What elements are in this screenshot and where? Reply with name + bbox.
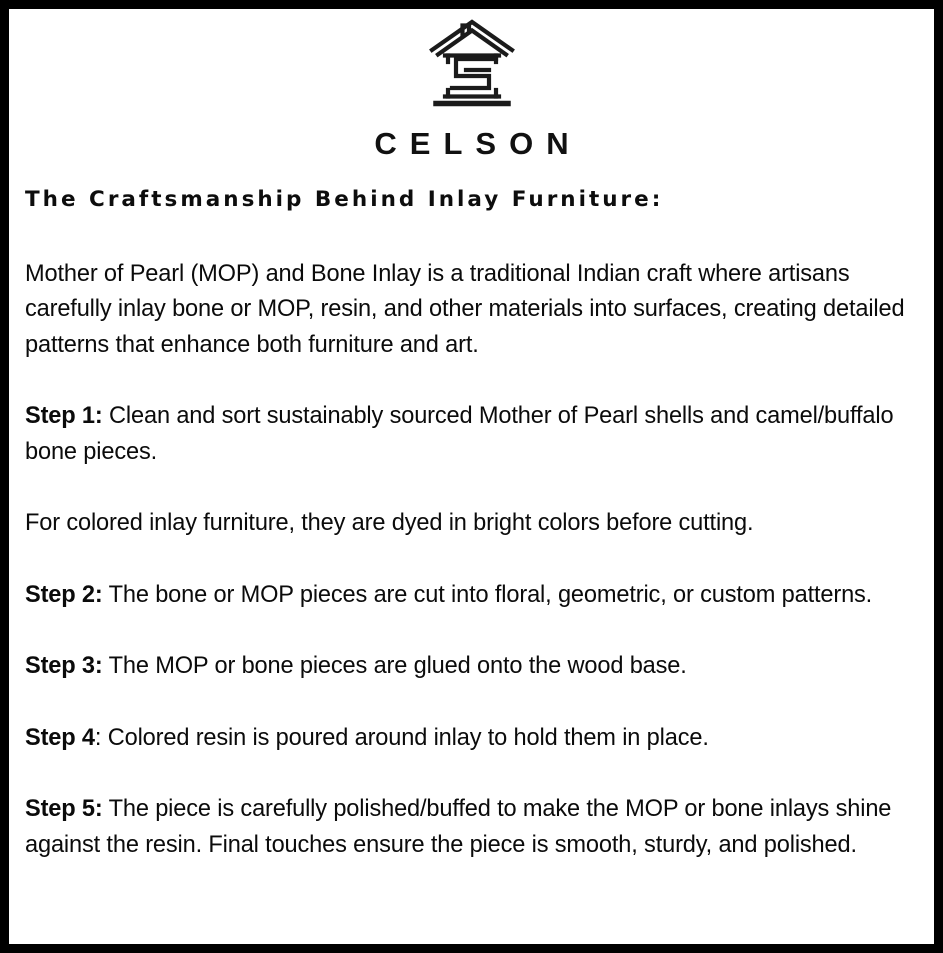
paragraph-lead: Step 3:	[25, 653, 103, 679]
brand-header: CELSON	[16, 14, 927, 159]
paragraph-step-3: Step 3: The MOP or bone pieces are glued…	[25, 649, 909, 685]
paragraph-lead: Step 2:	[25, 582, 103, 608]
poster-inner: CELSON The Craftsmanship Behind Inlay Fu…	[9, 9, 934, 944]
paragraph-step-2: Step 2: The bone or MOP pieces are cut i…	[25, 578, 909, 614]
paragraph-step-5: Step 5: The piece is carefully polished/…	[25, 792, 909, 863]
paragraph-lead: Step 1:	[25, 403, 103, 429]
paragraph-text: Colored resin is poured around inlay to …	[101, 725, 708, 751]
paragraph-lead: Step 5:	[25, 796, 103, 822]
paragraph-text: The MOP or bone pieces are glued onto th…	[103, 653, 687, 679]
paragraph-text: The bone or MOP pieces are cut into flor…	[103, 582, 872, 608]
paragraph-text: For colored inlay furniture, they are dy…	[25, 510, 753, 536]
paragraph-step-4: Step 4: Colored resin is poured around i…	[25, 721, 909, 757]
paragraph-text: The piece is carefully polished/buffed t…	[25, 796, 891, 858]
house-monogram-icon	[426, 18, 518, 112]
paragraph-text: Clean and sort sustainably sourced Mothe…	[25, 403, 893, 465]
paragraph-lead: Step 4	[25, 725, 95, 751]
paragraph-text: Mother of Pearl (MOP) and Bone Inlay is …	[25, 261, 904, 358]
paragraph-intro: Mother of Pearl (MOP) and Bone Inlay is …	[25, 257, 909, 364]
page-title: The Craftsmanship Behind Inlay Furniture…	[25, 187, 927, 213]
article-body: Mother of Pearl (MOP) and Bone Inlay is …	[25, 257, 927, 864]
poster-card: CELSON The Craftsmanship Behind Inlay Fu…	[0, 0, 943, 953]
paragraph-colored-note: For colored inlay furniture, they are dy…	[25, 506, 909, 542]
paragraph-step-1: Step 1: Clean and sort sustainably sourc…	[25, 399, 909, 470]
brand-name: CELSON	[361, 128, 581, 159]
